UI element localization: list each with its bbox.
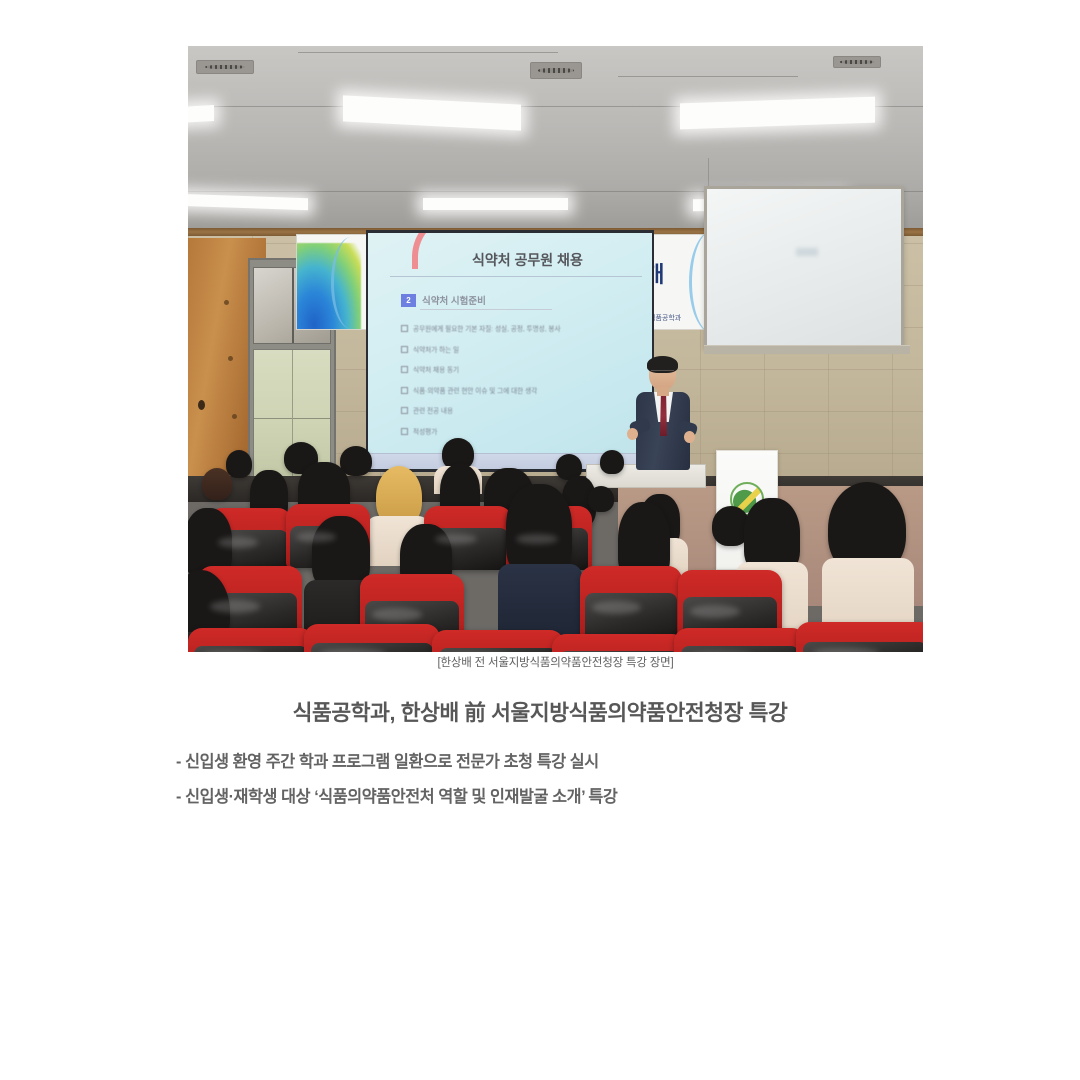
audience-head (202, 468, 232, 500)
projector-screen: 식약처 공무원 채용 2 식약처 시험준비 공무원에게 필요한 기본 자질: 성… (368, 233, 652, 469)
ceiling-vent-icon (196, 60, 254, 74)
slide-bullet: 식약처 채용 동기 (401, 364, 641, 374)
article-bullet: - 신입생 환영 주간 학과 프로그램 일환으로 전문가 초청 특강 실시 (176, 748, 1036, 772)
banner-swoosh-graphic (331, 237, 371, 329)
audience-head (312, 516, 370, 590)
whiteboard-marking (796, 248, 818, 256)
whiteboard[interactable] (704, 186, 904, 348)
auditorium-seat[interactable] (188, 628, 314, 652)
seat-highlight (210, 600, 260, 612)
page-root: 식 소개 장) 식품공학과 식약처 공무원 채용 2 식약처 시험준비 (0, 0, 1080, 1080)
ceiling-light-panel (423, 198, 568, 210)
speaker-hand (627, 428, 638, 440)
auditorium-seat[interactable] (304, 624, 440, 652)
speaker-hand (684, 431, 695, 443)
door-detail (224, 300, 229, 305)
door-detail (228, 356, 233, 361)
photo-caption: [한상배 전 서울지방식품의약품안전청장 특강 장면] (188, 654, 923, 670)
door-knob-icon[interactable] (198, 400, 205, 410)
ceiling-seam (298, 52, 558, 53)
auditorium-seat[interactable] (432, 630, 564, 652)
audience-head (506, 484, 572, 576)
slide-bullet: 공무원에게 필요한 기본 자질: 성실, 공정, 투명성, 봉사 (401, 323, 641, 333)
door-detail (232, 414, 237, 419)
slide-bullet-list: 공무원에게 필요한 기본 자질: 성실, 공정, 투명성, 봉사 식약처가 하는… (401, 323, 641, 446)
slide-bullet: 관련 전공 내용 (401, 405, 641, 415)
audience-head (600, 450, 624, 474)
ceiling-light-panel (188, 105, 214, 123)
slide-section-badge: 2 (401, 294, 416, 307)
auditorium-seat[interactable] (552, 634, 686, 652)
projector-screen-frame: 식약처 공무원 채용 2 식약처 시험준비 공무원에게 필요한 기본 자질: 성… (366, 230, 654, 472)
auditorium-seat[interactable] (674, 628, 806, 652)
seat-highlight (218, 537, 258, 548)
audience-head (226, 450, 252, 478)
speaker-tie (660, 396, 667, 436)
whiteboard-marker-tray (704, 345, 910, 354)
ceiling-seam (618, 76, 798, 77)
slide-section-heading: 식약처 시험준비 (422, 293, 486, 307)
ceiling-vent-icon (530, 62, 582, 79)
slide-section-underline (420, 309, 552, 310)
slide-divider (390, 276, 642, 277)
seat-highlight (813, 648, 879, 652)
seat-highlight (203, 651, 263, 652)
seat-highlight (690, 605, 740, 618)
article-bullet: - 신입생·재학생 대상 ‘식품의약품안전처 역할 및 인재발굴 소개’ 특강 (176, 783, 1036, 807)
lecture-hall-photograph: 식 소개 장) 식품공학과 식약처 공무원 채용 2 식약처 시험준비 (188, 46, 923, 652)
speaker-neck (657, 387, 669, 396)
speaker-figure (636, 358, 692, 473)
seat-highlight (372, 608, 422, 620)
ceiling-vent-icon (833, 56, 881, 68)
slide-bullet: 적성평가 (401, 426, 641, 436)
seat-highlight (592, 601, 641, 614)
article-bullet-list: - 신입생 환영 주간 학과 프로그램 일환으로 전문가 초청 특강 실시 - … (176, 748, 1036, 818)
slide-bullet: 식품·의약품 관련 현안 이슈 및 그에 대한 생각 (401, 385, 641, 395)
auditorium-seat[interactable] (796, 622, 923, 652)
seat-highlight (320, 649, 385, 652)
article-headline: 식품공학과, 한상배 前 서울지방식품의약품안전청장 특강 (0, 696, 1080, 727)
audience-head (588, 486, 614, 512)
slide-bullet: 식약처가 하는 일 (401, 344, 641, 354)
eyeglasses-icon (651, 370, 674, 376)
slide-title: 식약처 공무원 채용 (472, 250, 583, 270)
